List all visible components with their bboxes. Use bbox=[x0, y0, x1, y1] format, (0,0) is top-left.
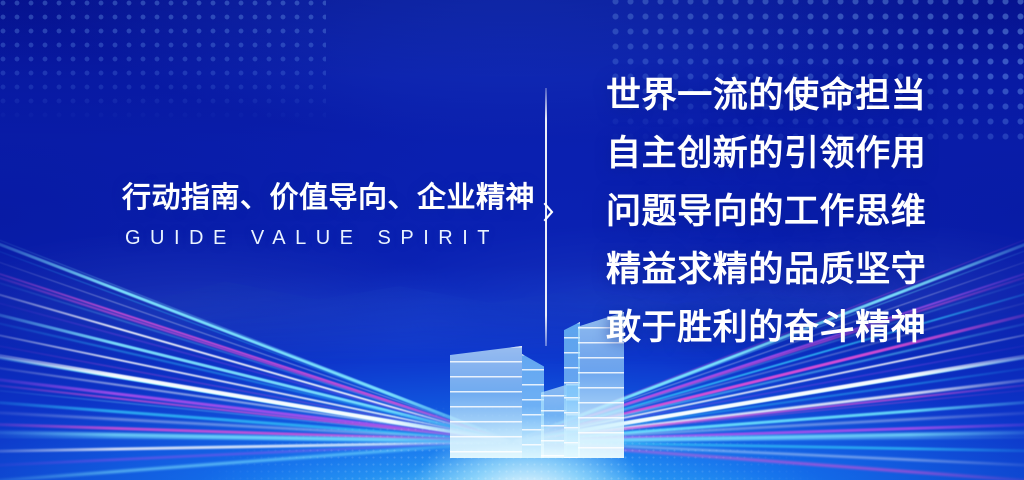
left-text-block: 行动指南、价值导向、企业精神 GUIDE VALUE SPIRIT bbox=[122, 180, 522, 250]
banner-canvas: 行动指南、价值导向、企业精神 GUIDE VALUE SPIRIT 世界一流的使… bbox=[0, 0, 1024, 480]
slogan-line-5: 敢于胜利的奋斗精神 bbox=[606, 310, 956, 345]
chevron-right-icon bbox=[543, 202, 555, 222]
right-slogan-block: 世界一流的使命担当 自主创新的引领作用 问题导向的工作思维 精益求精的品质坚守 … bbox=[606, 78, 956, 345]
slogan-line-3: 问题导向的工作思维 bbox=[606, 194, 956, 229]
building-mid bbox=[541, 380, 567, 458]
building-left bbox=[450, 346, 522, 458]
building-left-side bbox=[522, 354, 544, 458]
left-heading-chinese: 行动指南、价值导向、企业精神 bbox=[122, 180, 522, 216]
left-subtitle-english: GUIDE VALUE SPIRIT bbox=[122, 227, 522, 250]
slogan-line-1: 世界一流的使命担当 bbox=[606, 78, 956, 113]
halftone-dot-grid-left bbox=[0, 0, 326, 124]
building-tall-side bbox=[564, 322, 580, 458]
slogan-line-2: 自主创新的引领作用 bbox=[606, 136, 956, 171]
slogan-line-4: 精益求精的品质坚守 bbox=[606, 252, 956, 287]
skyline-buildings-illustration bbox=[438, 308, 618, 458]
